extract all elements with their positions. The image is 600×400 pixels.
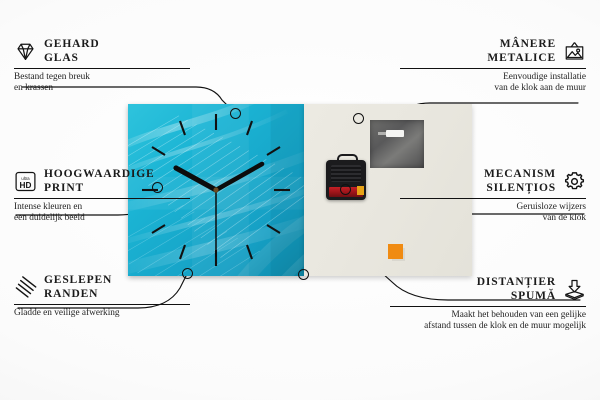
- feature-title-line1: HOOGWAARDIGE: [44, 168, 155, 182]
- feature-description-line1: Gladde en veilige afwerking: [14, 308, 190, 319]
- feature-title-line2: GLAS: [44, 52, 100, 66]
- product-infographic: GEHARD GLAS Bestand tegen breuk en krass…: [0, 0, 600, 400]
- feature-metal-handles: MÂNERE METALICE Eenvoudige installatie v…: [400, 38, 586, 95]
- feature-title-line2: SPUMĂ: [477, 290, 556, 304]
- feature-divider: [14, 68, 190, 69]
- hanger-slot: [386, 130, 404, 137]
- feature-header: MÂNERE METALICE: [400, 38, 586, 65]
- marker-handles: [353, 113, 364, 124]
- feature-title-line1: MECANISM: [484, 168, 556, 182]
- feature-header: GEHARD GLAS: [14, 38, 190, 65]
- picture-frame-icon: [563, 40, 586, 63]
- feature-divider: [390, 306, 586, 307]
- ultra-hd-icon: ultra HD: [14, 170, 37, 193]
- feature-ground-edges: GESLEPEN RANDEN Gladde en veilige afwerk…: [14, 274, 190, 319]
- marker-mechanism: [340, 184, 351, 195]
- feature-title-line2: METALICE: [487, 52, 556, 66]
- mechanism-grill: [331, 165, 361, 182]
- feature-header: ultra HD HOOGWAARDIGE PRINT: [14, 168, 190, 195]
- feature-title-line1: GESLEPEN: [44, 274, 112, 288]
- feature-tempered-glass: GEHARD GLAS Bestand tegen breuk en krass…: [14, 38, 190, 95]
- diagonal-lines-icon: [14, 276, 37, 299]
- battery-terminal: [357, 186, 364, 195]
- gear-icon: [563, 170, 586, 193]
- feature-title-line1: DISTANȚIER: [477, 276, 556, 290]
- diamond-icon: [14, 40, 37, 63]
- feature-divider: [14, 198, 190, 199]
- feature-description-line2: van de klok: [400, 213, 586, 224]
- mechanism-hook: [337, 154, 358, 165]
- feature-description-line1: Maakt het behouden van een gelijke: [390, 310, 586, 321]
- marker-tempered-glass: [230, 108, 241, 119]
- feature-title-line1: GEHARD: [44, 38, 100, 52]
- minute-hand: [216, 164, 262, 190]
- metal-hanger-plate: [370, 120, 424, 168]
- feature-divider: [14, 304, 190, 305]
- feature-description-line2: een duidelijk beeld: [14, 213, 190, 224]
- down-arrow-layer-icon: [563, 278, 586, 301]
- foam-spacer: [388, 244, 403, 259]
- feature-header: DISTANȚIER SPUMĂ: [390, 276, 586, 303]
- feature-description-line1: Eenvoudige installatie: [400, 72, 586, 83]
- feature-title-line1: MÂNERE: [487, 38, 556, 52]
- feature-description-line2: en krassen: [14, 83, 190, 94]
- feature-divider: [400, 68, 586, 69]
- feature-foam-spacer: DISTANȚIER SPUMĂ Maakt het behouden van …: [390, 276, 586, 333]
- feature-description-line1: Geruisloze wijzers: [400, 202, 586, 213]
- hands-cap: [213, 187, 218, 192]
- feature-title-line2: PRINT: [44, 182, 155, 196]
- feature-description-line2: afstand tussen de klok en de muur mogeli…: [390, 321, 586, 332]
- feature-description-line1: Bestand tegen breuk: [14, 72, 190, 83]
- feature-description-line2: van de klok aan de muur: [400, 83, 586, 94]
- feature-description-line1: Intense kleuren en: [14, 202, 190, 213]
- feature-header: GESLEPEN RANDEN: [14, 274, 190, 301]
- feature-title-line2: RANDEN: [44, 288, 112, 302]
- feature-high-quality-print: ultra HD HOOGWAARDIGE PRINT Intense kleu…: [14, 168, 190, 225]
- feature-silent-mechanism: MECANISM SILENȚIOS Geruisloze wijzers va…: [400, 168, 586, 225]
- marker-spacer: [298, 269, 309, 280]
- feature-header: MECANISM SILENȚIOS: [400, 168, 586, 195]
- feature-divider: [400, 198, 586, 199]
- svg-text:HD: HD: [20, 181, 32, 190]
- feature-title-line2: SILENȚIOS: [484, 182, 556, 196]
